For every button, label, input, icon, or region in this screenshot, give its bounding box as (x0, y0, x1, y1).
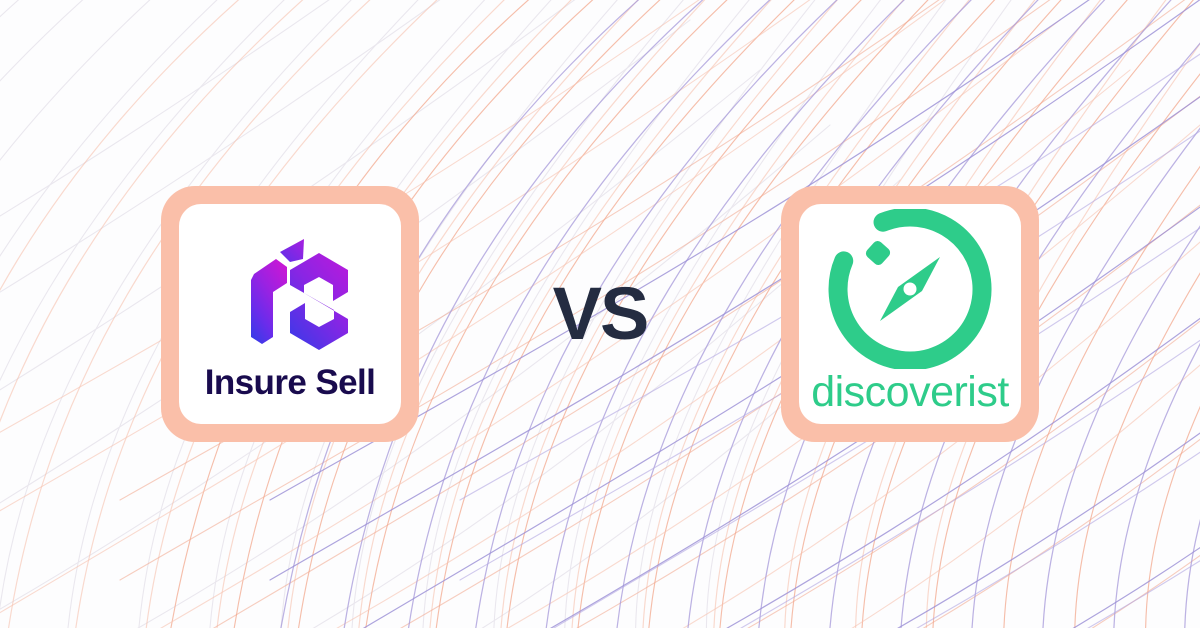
discoverist-compass-icon (828, 209, 992, 369)
left-product-name: Insure Sell (205, 365, 375, 400)
left-product-card[interactable]: Insure Sell (161, 186, 419, 442)
right-product-card-inner: discoverist (799, 204, 1021, 424)
versus-label: VS (553, 277, 648, 351)
banner-canvas: Insure Sell VS discoverist (0, 0, 1200, 628)
versus-separator: VS (419, 277, 781, 351)
right-product-name: discoverist (811, 371, 1009, 414)
left-product-card-inner: Insure Sell (179, 204, 401, 424)
right-product-card[interactable]: discoverist (781, 186, 1039, 442)
insure-sell-is-monogram-icon (224, 229, 356, 351)
comparison-row: Insure Sell VS discoverist (0, 0, 1200, 628)
